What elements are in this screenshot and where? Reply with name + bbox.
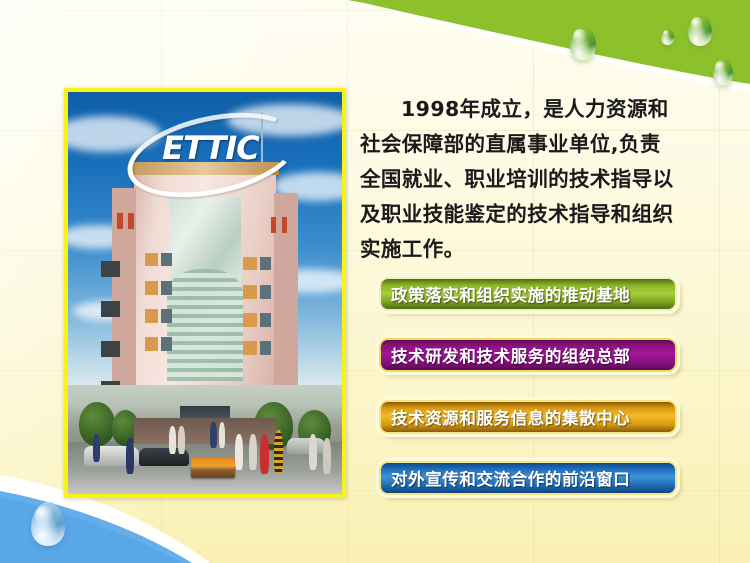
car-far [287,438,325,454]
window [145,309,159,323]
window [260,313,271,327]
window [260,341,271,355]
banner-resource-center[interactable]: 技术资源和服务信息的集散中心 [379,400,677,434]
balcony [101,301,120,317]
banner-policy-base[interactable]: 政策落实和组织实施的推动基地 [379,277,677,311]
droplet-blue-1 [31,502,65,546]
pedestrian [323,438,331,474]
banner-label: 政策落实和组织实施的推动基地 [391,282,630,306]
pedestrian [169,426,176,454]
droplet-green-1 [570,26,596,60]
window [243,313,257,327]
window [161,253,172,267]
window [243,341,257,355]
banner-rd-headquarters[interactable]: 技术研发和技术服务的组织总部 [379,338,677,372]
pedestrian [260,434,269,474]
pedestrian [210,422,217,448]
droplet-green-2 [688,14,712,46]
pedestrian [309,434,317,470]
window [260,285,271,299]
window [161,281,172,295]
window [128,213,133,229]
slide-canvas: ETTIC 1998年成立，是人力资源和社会保障部的直属事业单位,负责全国就业、… [0,0,750,563]
pedestrian [249,434,257,470]
pedestrian [126,438,134,474]
window [282,217,287,233]
window [271,217,276,233]
window [260,257,271,271]
ettic-logo-text: ETTIC [139,122,281,174]
flower-planter [191,458,235,478]
window [243,285,257,299]
droplet-green-3 [661,28,674,45]
pedestrian [235,434,243,470]
banner-label: 技术研发和技术服务的组织总部 [391,343,630,367]
balcony [101,261,120,277]
droplet-green-4 [713,58,733,85]
window [161,309,172,323]
pedestrian [178,426,185,454]
banner-outreach-window[interactable]: 对外宣传和交流合作的前沿窗口 [379,461,677,495]
balcony [101,341,120,357]
intro-paragraph: 1998年成立，是人力资源和社会保障部的直属事业单位,负责全国就业、职业培训的技… [360,92,680,267]
window [145,281,159,295]
banner-label: 对外宣传和交流合作的前沿窗口 [391,466,630,490]
pedestrian [219,422,226,448]
banner-label: 技术资源和服务信息的集散中心 [391,405,630,429]
window [243,257,257,271]
pedestrian [93,434,100,462]
building-curved-glass [167,269,244,382]
window [145,253,159,267]
pedestrian [274,430,283,474]
ettic-building-photo: ETTIC [64,88,346,498]
window [161,337,172,351]
window [145,337,159,351]
window [117,213,122,229]
